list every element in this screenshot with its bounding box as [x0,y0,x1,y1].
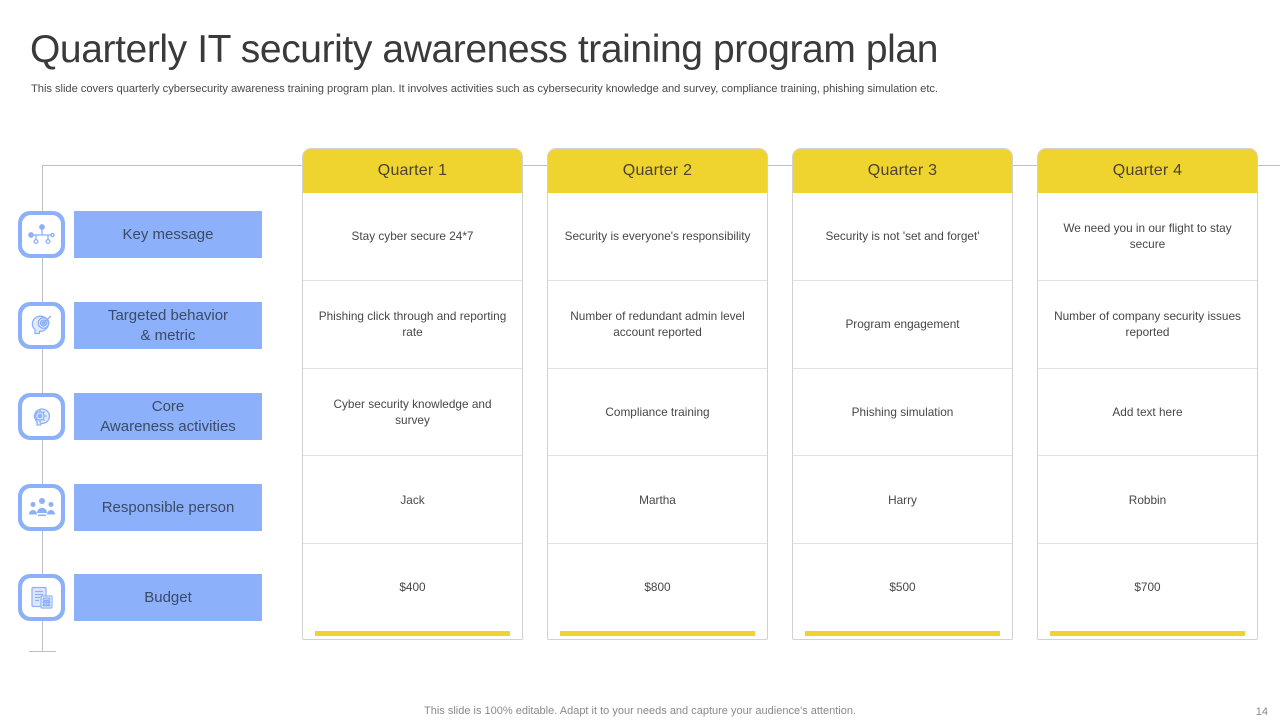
team-people-icon [22,488,61,527]
rail-label-1[interactable]: Targeted behavior& metric [74,302,262,349]
table-cell[interactable]: Jack [303,456,522,544]
quarter-card-accent-bar-1 [315,631,510,636]
rail-row-3: Responsible person [18,484,262,531]
table-cell[interactable]: Phishing simulation [793,369,1012,457]
rail-label-4[interactable]: Budget [74,574,262,621]
table-cell[interactable]: $700 [1038,544,1257,631]
table-cell[interactable]: Harry [793,456,1012,544]
invoice-calculator-icon [22,578,61,617]
table-cell[interactable]: Security is everyone's responsibility [548,193,767,281]
network-broadcast-icon-wrapper [18,211,65,258]
team-people-icon-wrapper [18,484,65,531]
quarter-card-header-2[interactable]: Quarter 2 [548,149,767,193]
invoice-calculator-icon-wrapper [18,574,65,621]
quarter-card-header-3[interactable]: Quarter 3 [793,149,1012,193]
table-cell[interactable]: Number of company security issues report… [1038,281,1257,369]
table-cell[interactable]: Compliance training [548,369,767,457]
page-title: Quarterly IT security awareness training… [30,28,938,72]
head-target-icon-wrapper [18,302,65,349]
head-gear-icon-wrapper [18,393,65,440]
rail-row-0: Key message [18,211,262,258]
table-cell[interactable]: Number of redundant admin level account … [548,281,767,369]
network-broadcast-icon [22,215,61,254]
table-cell[interactable]: $500 [793,544,1012,631]
quarter-card-4: Quarter 4We need you in our flight to st… [1037,148,1258,640]
quarter-card-body-1: Stay cyber secure 24*7Phishing click thr… [303,193,522,631]
footer-note: This slide is 100% editable. Adapt it to… [0,705,1280,717]
table-cell[interactable]: $400 [303,544,522,631]
rail-label-0[interactable]: Key message [74,211,262,258]
rail-row-1: Targeted behavior& metric [18,302,262,349]
table-cell[interactable]: Stay cyber secure 24*7 [303,193,522,281]
quarter-card-3: Quarter 3Security is not 'set and forget… [792,148,1013,640]
quarter-card-2: Quarter 2Security is everyone's responsi… [547,148,768,640]
table-cell[interactable]: Add text here [1038,369,1257,457]
table-cell[interactable]: Program engagement [793,281,1012,369]
page-number: 14 [1256,706,1268,718]
rail-label-2[interactable]: CoreAwareness activities [74,393,262,440]
rail-label-3[interactable]: Responsible person [74,484,262,531]
head-gear-icon [22,397,61,436]
quarter-card-body-2: Security is everyone's responsibilityNum… [548,193,767,631]
connector-foot-tick [29,651,56,652]
quarter-card-1: Quarter 1Stay cyber secure 24*7Phishing … [302,148,523,640]
quarter-card-accent-bar-2 [560,631,755,636]
table-cell[interactable]: Martha [548,456,767,544]
quarter-card-accent-bar-3 [805,631,1000,636]
quarter-card-header-4[interactable]: Quarter 4 [1038,149,1257,193]
quarter-card-body-3: Security is not 'set and forget'Program … [793,193,1012,631]
table-cell[interactable]: $800 [548,544,767,631]
quarter-card-accent-bar-4 [1050,631,1245,636]
table-cell[interactable]: Robbin [1038,456,1257,544]
rail-row-4: Budget [18,574,262,621]
page-subtitle: This slide covers quarterly cybersecurit… [31,83,938,95]
table-cell[interactable]: We need you in our flight to stay secure [1038,193,1257,281]
head-target-icon [22,306,61,345]
table-cell[interactable]: Phishing click through and reporting rat… [303,281,522,369]
quarter-card-body-4: We need you in our flight to stay secure… [1038,193,1257,631]
rail-row-2: CoreAwareness activities [18,393,262,440]
quarter-card-header-1[interactable]: Quarter 1 [303,149,522,193]
table-cell[interactable]: Cyber security knowledge and survey [303,369,522,457]
table-cell[interactable]: Security is not 'set and forget' [793,193,1012,281]
